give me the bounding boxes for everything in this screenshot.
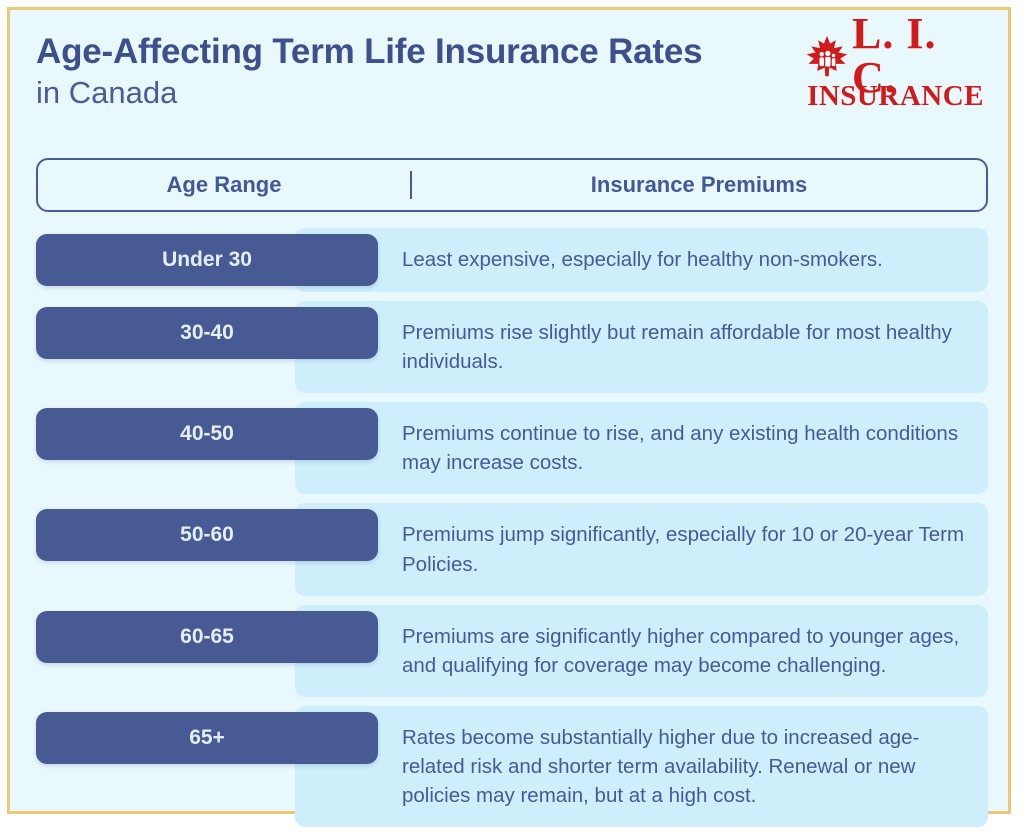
page-title: Age-Affecting Term Life Insurance Rates … — [36, 32, 796, 111]
age-range-pill: 65+ — [36, 712, 378, 764]
age-range-pill: 40-50 — [36, 408, 378, 460]
age-range-pill: 60-65 — [36, 611, 378, 663]
brand-logo: L. I. C. INSURANCE — [804, 32, 984, 118]
premium-description: Premiums jump significantly, especially … — [378, 503, 988, 595]
table-row: 40-50 Premiums continue to rise, and any… — [36, 402, 988, 494]
premium-text: Premiums jump significantly, especially … — [402, 520, 966, 578]
table-row: 50-60 Premiums jump significantly, espec… — [36, 503, 988, 595]
premium-description: Rates become substantially higher due to… — [378, 706, 988, 827]
premium-text: Least expensive, especially for healthy … — [402, 245, 883, 274]
premium-description: Premiums are significantly higher compar… — [378, 605, 988, 697]
age-range-pill: 30-40 — [36, 307, 378, 359]
premium-text: Rates become substantially higher due to… — [402, 723, 966, 810]
column-header-insurance-premiums: Insurance Premiums — [412, 172, 986, 198]
header: Age-Affecting Term Life Insurance Rates … — [10, 10, 1008, 140]
logo-top-row: L. I. C. — [804, 32, 984, 80]
premium-description: Least expensive, especially for healthy … — [378, 228, 988, 292]
age-range-pill: 50-60 — [36, 509, 378, 561]
table-row: Under 30 Least expensive, especially for… — [36, 228, 988, 292]
title-line-2: in Canada — [36, 74, 796, 111]
infographic-card: Age-Affecting Term Life Insurance Rates … — [7, 7, 1011, 814]
premium-text: Premiums rise slightly but remain afford… — [402, 318, 966, 376]
title-line-1: Age-Affecting Term Life Insurance Rates — [36, 32, 796, 71]
table-row: 60-65 Premiums are significantly higher … — [36, 605, 988, 697]
table-body: Under 30 Least expensive, especially for… — [36, 228, 988, 836]
logo-wordmark: INSURANCE — [804, 82, 984, 111]
premium-description: Premiums rise slightly but remain afford… — [378, 301, 988, 393]
age-range-pill: Under 30 — [36, 234, 378, 286]
premium-description: Premiums continue to rise, and any exist… — [378, 402, 988, 494]
premium-text: Premiums continue to rise, and any exist… — [402, 419, 966, 477]
table-column-header: Age Range Insurance Premiums — [36, 158, 988, 212]
table-row: 30-40 Premiums rise slightly but remain … — [36, 301, 988, 393]
maple-leaf-family-icon — [804, 34, 850, 78]
table-row: 65+ Rates become substantially higher du… — [36, 706, 988, 827]
column-header-age-range: Age Range — [38, 172, 410, 198]
premium-text: Premiums are significantly higher compar… — [402, 622, 966, 680]
